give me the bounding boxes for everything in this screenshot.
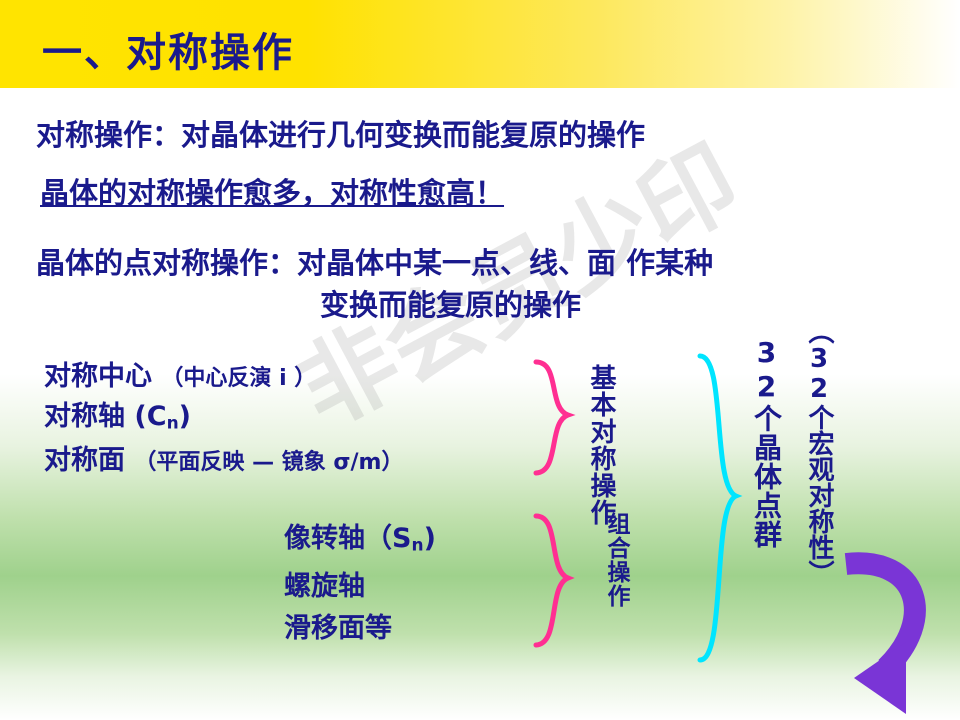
label-32-macro-symmetry: （32个宏观对称性） bbox=[806, 318, 832, 586]
basic-op-3-label: 对称面 bbox=[44, 445, 125, 476]
basic-op-1-paren: （中心反演 i ） bbox=[161, 366, 316, 391]
brace-basic-operations bbox=[536, 362, 568, 473]
combo-op-row-1: 像转轴（Sn) bbox=[284, 518, 436, 566]
combo-op-3-label: 滑移面等 bbox=[284, 613, 392, 644]
definition-line-2-text: 晶体的对称操作愈多，对称性愈高！ bbox=[40, 176, 504, 210]
combination-operations-list: 像转轴（Sn) 螺旋轴 滑移面等 bbox=[284, 518, 436, 650]
definition-line-1: 对称操作：对晶体进行几何变换而能复原的操作 bbox=[36, 112, 645, 154]
brace-point-groups bbox=[700, 356, 736, 660]
definition-line-4: 变换而能复原的操作 bbox=[320, 282, 581, 324]
basic-op-2-paren: (C bbox=[134, 401, 166, 432]
basic-op-3-paren: （平面反映 — 镜象 σ/m） bbox=[134, 450, 403, 475]
basic-op-1-label: 对称中心 bbox=[44, 361, 152, 392]
definition-line-3-text: 晶体的点对称操作：对晶体中某一点、线、面 作某种 bbox=[36, 246, 713, 280]
definition-line-1-text: 对称操作：对晶体进行几何变换而能复原的操作 bbox=[36, 118, 645, 152]
combo-op-2-label: 螺旋轴 bbox=[284, 571, 365, 602]
basic-op-2-label: 对称轴 bbox=[44, 401, 125, 432]
combo-op-1-subscript: n bbox=[411, 535, 423, 555]
basic-op-row-1: 对称中心 （中心反演 i ） bbox=[44, 358, 403, 398]
label-basic-operations: 基本对称操作 bbox=[588, 364, 614, 526]
brace-combination-operations bbox=[536, 516, 568, 645]
definition-line-4-text: 变换而能复原的操作 bbox=[320, 288, 581, 322]
combo-op-1-label: 像转轴（S bbox=[284, 523, 411, 554]
combo-op-row-2: 螺旋轴 bbox=[284, 566, 436, 608]
curved-arrow-shaft bbox=[846, 563, 915, 668]
curved-arrow-head bbox=[854, 642, 906, 714]
combo-op-1-end: ) bbox=[424, 523, 436, 554]
combo-op-row-3: 滑移面等 bbox=[284, 608, 436, 650]
slide: 一、对称操作 非会员少印 对称操作：对晶体进行几何变换而能复原的操作 晶体的对称… bbox=[0, 0, 960, 720]
basic-op-row-3: 对称面 （平面反映 — 镜象 σ/m） bbox=[44, 442, 403, 482]
label-32-point-groups: 32个晶体点群 bbox=[752, 336, 780, 549]
basic-op-row-2: 对称轴 (Cn) bbox=[44, 398, 403, 442]
basic-operations-list: 对称中心 （中心反演 i ） 对称轴 (Cn) 对称面 （平面反映 — 镜象 σ… bbox=[44, 358, 403, 482]
label-combination-operations: 组合操作 bbox=[604, 512, 627, 608]
basic-op-2-paren-end: ) bbox=[179, 401, 191, 432]
definition-line-2: 晶体的对称操作愈多，对称性愈高！ bbox=[40, 170, 504, 212]
definition-line-3: 晶体的点对称操作：对晶体中某一点、线、面 作某种 bbox=[36, 240, 713, 282]
basic-op-2-subscript: n bbox=[167, 413, 179, 433]
page-title: 一、对称操作 bbox=[42, 20, 294, 78]
